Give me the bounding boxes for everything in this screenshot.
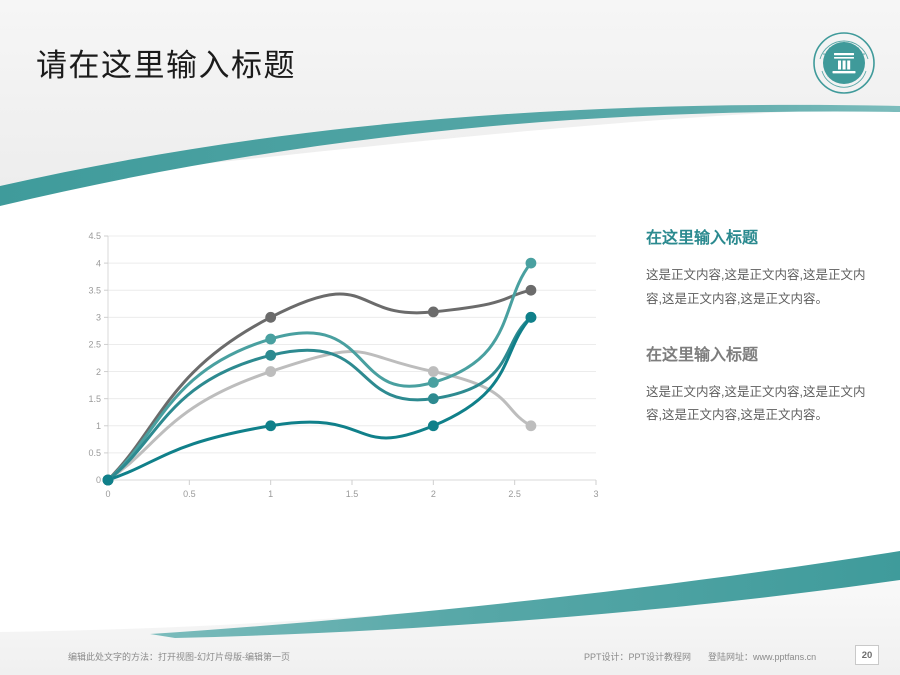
line-chart: 00.511.522.533.544.500.511.522.53 [78,228,608,513]
chart-data-point [265,366,276,377]
chart-data-point [526,285,537,296]
chart-x-tick-label: 3 [593,489,598,499]
chart-series-line [108,352,531,480]
text-block-1-heading: 在这里输入标题 [646,228,871,250]
chart-data-point [428,377,439,388]
footer-designer-label: PPT设计：PPT设计教程网 [584,652,691,662]
chart-x-tick-label: 2.5 [508,489,521,499]
text-block-2: 在这里输入标题 这是正文内容,这是正文内容,这是正文内容,这是正文内容,这是正文… [646,345,871,428]
chart-x-tick-label: 0.5 [183,489,196,499]
chart-x-tick-label: 2 [431,489,436,499]
chart-y-tick-label: 1 [96,421,101,431]
seal-icon [808,27,880,99]
chart-data-point [526,258,537,269]
footer-site-label: 登陆网址：www.pptfans.cn [708,652,816,662]
chart-data-point [265,312,276,323]
chart-data-point [428,366,439,377]
chart-y-tick-label: 0 [96,475,101,485]
chart-x-tick-label: 1 [268,489,273,499]
chart-data-point [428,393,439,404]
chart-plot-area: 00.511.522.533.544.500.511.522.53 [78,228,608,513]
university-seal-logo [808,27,880,99]
slide-canvas: 请在这里输入标题 [0,0,900,675]
chart-y-tick-label: 2 [96,367,101,377]
page-title: 请在这里输入标题 [36,40,296,85]
chart-y-tick-label: 3 [96,313,101,323]
footer-left-note: 编辑此处文字的方法：打开视图-幻灯片母版-编辑第一页 [68,650,290,663]
chart-data-point [265,420,276,431]
chart-x-tick-label: 0 [105,489,110,499]
chart-data-point [265,334,276,345]
chart-data-point [526,420,537,431]
text-block-1: 在这里输入标题 这是正文内容,这是正文内容,这是正文内容,这是正文内容,这是正文… [646,228,871,311]
chart-data-point [265,350,276,361]
chart-data-point [103,475,114,486]
chart-data-point [428,307,439,318]
content-text-column: 在这里输入标题 这是正文内容,这是正文内容,这是正文内容,这是正文内容,这是正文… [646,228,871,455]
chart-y-tick-label: 2.5 [88,340,101,350]
text-block-2-body: 这是正文内容,这是正文内容,这是正文内容,这是正文内容,这是正文内容。 [646,381,871,427]
chart-y-tick-label: 1.5 [88,394,101,404]
chart-y-tick-label: 4 [96,258,101,268]
chart-x-tick-label: 1.5 [346,489,359,499]
header-grey-band [0,0,900,186]
chart-data-point [428,420,439,431]
footer-right-note: PPT设计：PPT设计教程网 登陆网址：www.pptfans.cn [584,650,816,663]
page-number-badge: 20 [855,645,879,665]
chart-y-tick-label: 3.5 [88,285,101,295]
text-block-2-heading: 在这里输入标题 [646,345,871,367]
chart-y-tick-label: 4.5 [88,231,101,241]
text-block-1-body: 这是正文内容,这是正文内容,这是正文内容,这是正文内容,这是正文内容。 [646,264,871,310]
chart-data-point [526,312,537,323]
chart-y-tick-label: 0.5 [88,448,101,458]
